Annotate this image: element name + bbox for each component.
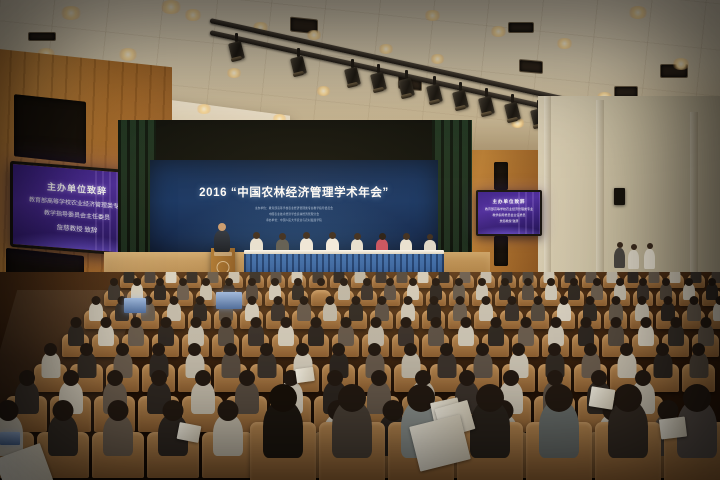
attendee: [257, 352, 276, 378]
attendee: [145, 272, 156, 283]
attendee: [539, 400, 579, 458]
seat: [92, 334, 119, 357]
stage-spotlight: [346, 66, 359, 88]
slide-line-3: 詹慈教授 致辞: [500, 219, 519, 223]
attendee: [166, 272, 177, 283]
attendee: [687, 302, 701, 321]
standing-attendee: [628, 250, 639, 269]
seat: [595, 422, 661, 480]
seat: [92, 432, 144, 478]
attendee: [308, 324, 324, 346]
stage-backdrop-banner: 2016 “中国农林经济管理学术年会” 主办单位：教育部高等学校农业经济管理类专…: [150, 160, 438, 252]
attendee: [531, 302, 545, 321]
stage-spotlight: [428, 83, 441, 105]
seat: [272, 334, 299, 357]
stage-spotlight: [506, 101, 519, 123]
attendee: [263, 400, 303, 458]
seat: [526, 422, 592, 480]
presentation-slide: 主办单位致辞 教育部高等学校农业经济管理类专业 教学指导委员会主任委员 詹慈教授…: [478, 192, 540, 234]
attendee: [439, 272, 450, 283]
seat-row: [250, 422, 720, 480]
banner-title: 2016 “中国农林经济管理学术年会”: [150, 184, 438, 200]
attendee: [608, 324, 624, 346]
slide-line-3: 詹慈教授 致辞: [57, 221, 98, 234]
attendee: [458, 324, 474, 346]
attendee: [522, 283, 534, 300]
attendee: [154, 283, 166, 300]
banner-subtitle-2: 中国农业技术经济学会农林经济管理分会: [150, 212, 438, 216]
standing-attendee: [614, 248, 625, 268]
attendee: [628, 272, 639, 283]
laptop: [0, 432, 20, 445]
attendee: [41, 352, 60, 378]
attendee: [349, 302, 363, 321]
attendee: [103, 414, 133, 456]
attendee: [191, 381, 215, 414]
attendee: [617, 352, 636, 378]
right-projection-display: 主办单位致辞 教育部高等学校农业经济管理类专业 教学指导委员会主任委员 詹慈教授…: [476, 190, 542, 236]
podium-plate: [214, 252, 232, 256]
seat: [150, 290, 170, 306]
attendee: [473, 352, 492, 378]
attendee: [384, 283, 396, 300]
attendee: [470, 400, 510, 458]
slide-line-1: 教育部高等学校农业经济管理类专业: [485, 207, 533, 211]
seat: [319, 422, 385, 480]
attendee: [670, 272, 681, 283]
attendee: [397, 272, 408, 283]
conference-hall-photo: 主办单位致辞 教育部高等学校农业经济管理类专业 教学指导委员会主任委员 詹慈教授…: [0, 0, 720, 480]
acoustic-panel: [14, 94, 86, 164]
audience-seating-area: [0, 272, 720, 480]
acoustic-panel: [494, 162, 508, 190]
attendee: [177, 283, 189, 300]
attendee: [278, 324, 294, 346]
standing-attendee: [644, 249, 655, 269]
recessed-downlight: [60, 6, 82, 20]
stage-spotlight: [292, 55, 305, 77]
seat: [202, 432, 254, 478]
wall-pilaster: [690, 112, 698, 284]
attendee: [213, 414, 243, 456]
slide-title: 主办单位致辞: [47, 180, 107, 198]
attendee: [332, 400, 372, 458]
attendee: [376, 272, 387, 283]
conference-booklet: [295, 367, 315, 383]
stage-spotlight: [230, 40, 243, 62]
wall-pilaster: [596, 100, 604, 290]
attendee: [48, 414, 78, 456]
attendee: [653, 352, 672, 378]
recessed-downlight: [118, 48, 138, 61]
conference-booklet: [589, 386, 616, 410]
acoustic-panel: [494, 236, 508, 266]
stage-spotlight: [480, 95, 493, 117]
wall-pilaster: [544, 96, 551, 292]
seat: [632, 334, 659, 357]
attendee: [568, 283, 580, 300]
laptop: [216, 292, 242, 309]
attendee: [187, 272, 198, 283]
stage-spotlight: [372, 71, 385, 93]
stage-spotlight: [400, 77, 413, 99]
slide-title: 主办单位致辞: [493, 199, 526, 205]
laptop: [124, 298, 146, 313]
conference-booklet: [659, 416, 687, 439]
attendee: [418, 272, 429, 283]
attendee: [68, 324, 84, 346]
attendee: [505, 302, 519, 321]
ceiling-air-vent: [28, 32, 56, 41]
attendee: [248, 324, 264, 346]
wall-speaker: [614, 188, 625, 205]
stage-spotlight: [454, 89, 467, 111]
attendee: [221, 352, 240, 378]
banner-subtitle-3: 承办单位：中国人民大学农业与农村发展学院: [150, 218, 438, 222]
attendee: [545, 283, 557, 300]
attendee: [608, 400, 648, 458]
attendee: [128, 324, 144, 346]
attendee: [297, 302, 311, 321]
banner-subtitle-1: 主办单位：教育部高等学校农业经济管理类专业教学指导委员会: [150, 206, 438, 210]
attendee: [689, 352, 708, 378]
attendee: [338, 283, 350, 300]
attendee: [98, 324, 114, 346]
attendee: [323, 302, 337, 321]
attendee: [488, 324, 504, 346]
attendee: [713, 302, 720, 321]
attendee: [428, 324, 444, 346]
slide-line-2: 教学指导委员会主任委员: [492, 213, 525, 217]
attendee: [649, 272, 660, 283]
attendee: [437, 352, 456, 378]
slide-line-2: 教学指导委员会主任委员: [44, 207, 110, 221]
attendee: [361, 283, 373, 300]
seat: [452, 334, 479, 357]
seat: [250, 422, 316, 480]
attendee: [668, 324, 684, 346]
podium-speaker: [214, 230, 230, 252]
attendee: [638, 324, 654, 346]
attendee: [77, 352, 96, 378]
